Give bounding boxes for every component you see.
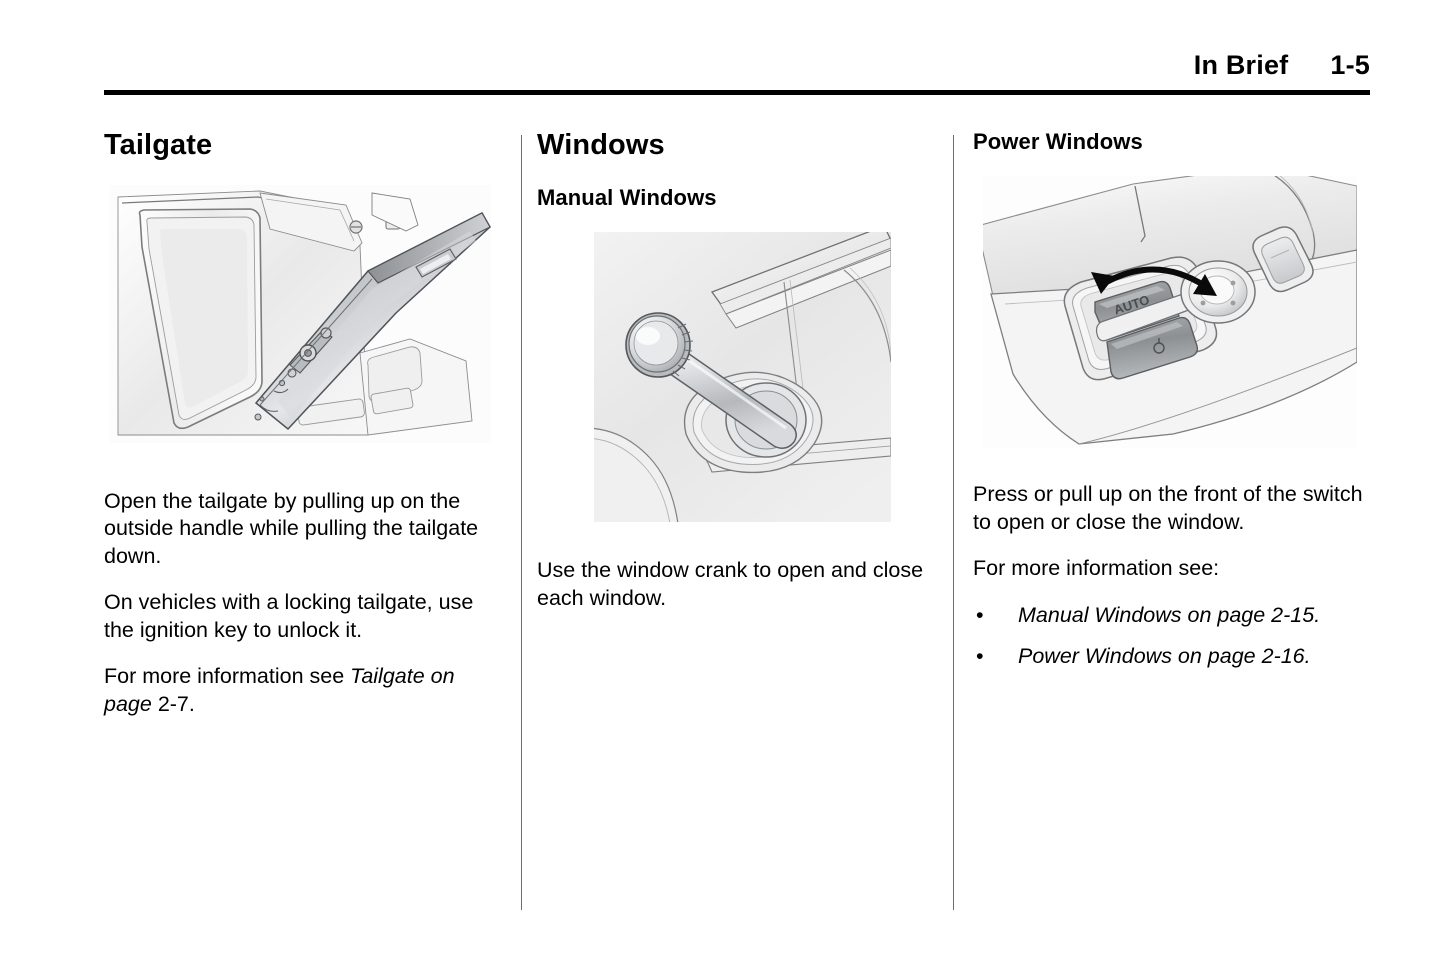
column-divider-right <box>953 135 954 910</box>
header-rule <box>104 90 1370 95</box>
power-window-switch-illustration: AUTO <box>983 176 1357 448</box>
column-container: Tailgate <box>0 130 1445 920</box>
tailgate-paragraph-1: Open the tailgate by pulling up on the o… <box>104 488 494 571</box>
section-title-power-windows: Power Windows <box>973 130 1365 154</box>
column-tailgate: Tailgate <box>104 130 494 719</box>
tailgate-illustration <box>110 185 491 443</box>
page-header: In Brief 1-5 <box>104 52 1370 95</box>
bullet-marker: • <box>976 602 984 630</box>
list-item: • Power Windows on page 2-16. <box>973 643 1365 671</box>
column-windows: Windows Manual Windows <box>537 130 927 612</box>
tailgate-cross-reference: For more information see Tailgate on pag… <box>104 663 494 718</box>
chapter-title: In Brief <box>1194 52 1289 79</box>
power-windows-paragraph-2: For more information see: <box>973 555 1365 583</box>
section-title-windows: Windows <box>537 130 927 162</box>
reference-link-power-windows: Power Windows on page 2-16. <box>1018 644 1311 668</box>
xref-lead-in: For more information see <box>104 664 350 688</box>
list-item: • Manual Windows on page 2-15. <box>973 602 1365 630</box>
section-title-tailgate: Tailgate <box>104 130 494 162</box>
reference-link-manual-windows: Manual Windows on page 2-15. <box>1018 603 1320 627</box>
xref-page: 2-7 <box>158 692 189 716</box>
column-divider-left <box>521 135 522 910</box>
window-crank-illustration <box>594 232 891 522</box>
bullet-marker: • <box>976 643 984 671</box>
page-number: 1-5 <box>1330 52 1370 79</box>
column-power-windows: Power Windows <box>973 130 1365 685</box>
manual-windows-paragraph-1: Use the window crank to open and close e… <box>537 557 927 612</box>
header-line: In Brief 1-5 <box>104 52 1370 90</box>
xref-period: . <box>189 692 195 716</box>
subsection-title-manual-windows: Manual Windows <box>537 186 927 210</box>
tailgate-paragraph-2: On vehicles with a locking tailgate, use… <box>104 589 494 644</box>
power-windows-reference-list: • Manual Windows on page 2-15. • Power W… <box>973 602 1365 671</box>
power-windows-paragraph-1: Press or pull up on the front of the swi… <box>973 481 1365 536</box>
